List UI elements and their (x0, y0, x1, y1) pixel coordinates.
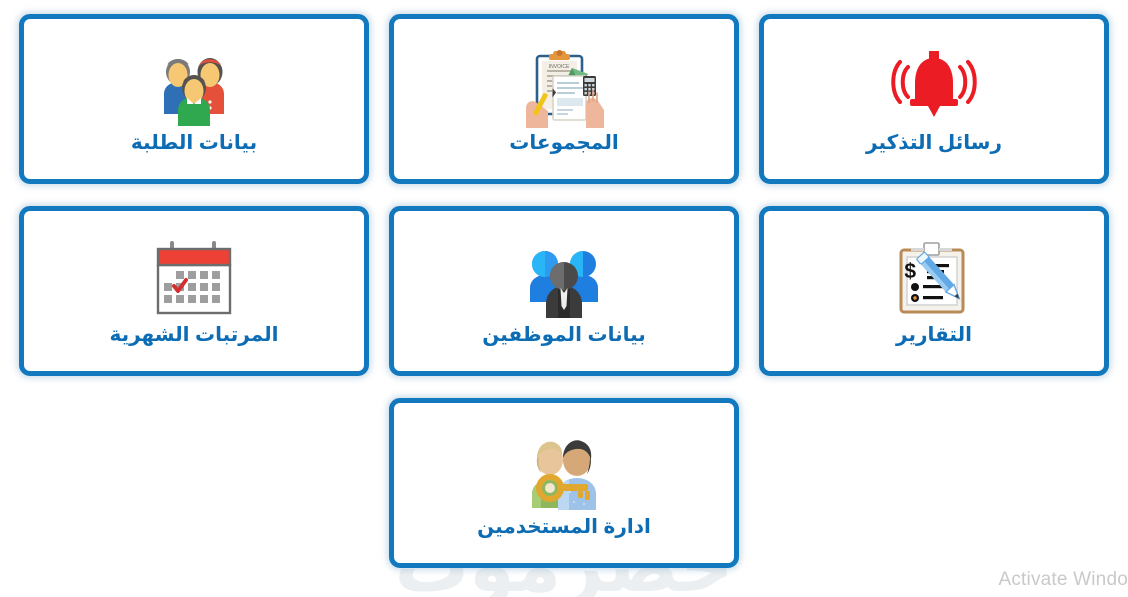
svg-text:$: $ (904, 260, 916, 283)
card-student-data[interactable]: بيانات الطلبة (19, 14, 369, 184)
students-group-icon (149, 44, 239, 130)
card-groups[interactable]: INVOICE (389, 14, 739, 184)
card-label: بيانات الطلبة (131, 132, 257, 155)
card-user-management[interactable]: ادارة المستخدمين (389, 398, 739, 568)
card-label: بيانات الموظفين (482, 324, 646, 347)
card-reminder-messages[interactable]: رسائل التذكير (759, 14, 1109, 184)
card-employee-data[interactable]: بيانات الموظفين (389, 206, 739, 376)
card-label: المجموعات (509, 132, 618, 155)
windows-activation-watermark: Activate Windo (998, 569, 1128, 591)
card-label: التقارير (896, 324, 972, 347)
svg-text:INVOICE: INVOICE (549, 64, 570, 70)
card-monthly-salaries[interactable]: المرتبات الشهرية (19, 206, 369, 376)
users-key-icon (519, 428, 609, 514)
card-label: المرتبات الشهرية (109, 324, 278, 347)
card-reports[interactable]: $ (759, 206, 1109, 376)
clipboard-pen-icon: $ (889, 236, 979, 322)
calendar-check-icon (149, 236, 239, 322)
module-card-grid: رسائل التذكير (0, 0, 1128, 568)
card-label: رسائل التذكير (866, 132, 1002, 155)
ringing-bell-icon (889, 44, 979, 130)
card-label: ادارة المستخدمين (477, 516, 651, 539)
employees-group-icon (519, 236, 609, 322)
invoice-clipboard-hands-icon: INVOICE (519, 44, 609, 130)
dashboard-screen: حضرموت رسائل التذكير (0, 0, 1128, 597)
